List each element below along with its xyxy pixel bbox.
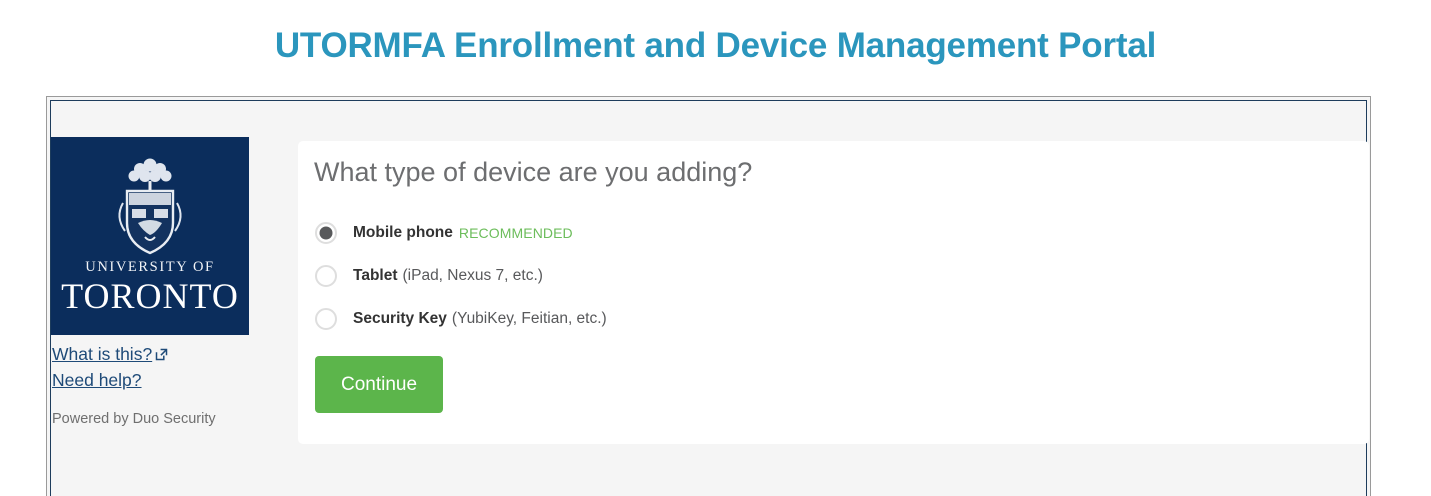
page-title: UTORMFA Enrollment and Device Management… <box>0 26 1431 66</box>
duo-frame-inner-border: UNIVERSITY OF TORONTO What is this? Need… <box>50 100 1367 496</box>
powered-by-label: Powered by Duo Security <box>51 411 296 427</box>
radio-indicator-security-key[interactable] <box>315 308 337 330</box>
university-name-line1: UNIVERSITY OF <box>51 259 249 276</box>
university-logo-box: UNIVERSITY OF TORONTO <box>51 137 249 335</box>
radio-indicator-mobile-phone[interactable] <box>315 222 337 244</box>
duo-enrollment-frame: UNIVERSITY OF TORONTO What is this? Need… <box>46 96 1371 496</box>
sidebar: UNIVERSITY OF TORONTO What is this? Need… <box>51 137 296 427</box>
radio-detail-tablet: (iPad, Nexus 7, etc.) <box>403 267 543 285</box>
uoft-crest-icon <box>107 151 193 261</box>
radio-indicator-tablet[interactable] <box>315 265 337 287</box>
radio-option-mobile-phone[interactable]: Mobile phone RECOMMENDED <box>315 219 1215 247</box>
device-selection-card: What type of device are you adding? Mobi… <box>298 141 1369 444</box>
radio-label-tablet: Tablet <box>353 267 398 285</box>
radio-option-security-key[interactable]: Security Key (YubiKey, Feitian, etc.) <box>315 305 1215 333</box>
external-link-icon <box>155 343 168 368</box>
sidebar-link-what-is-this[interactable]: What is this? <box>52 342 296 368</box>
sidebar-link-need-help-label: Need help? <box>52 370 142 390</box>
radio-option-tablet[interactable]: Tablet (iPad, Nexus 7, etc.) <box>315 262 1215 290</box>
radio-label-mobile-phone: Mobile phone <box>353 224 453 242</box>
device-type-radio-group[interactable]: Mobile phone RECOMMENDED Tablet (iPad, N… <box>315 219 1215 348</box>
sidebar-link-need-help[interactable]: Need help? <box>52 368 296 393</box>
continue-button[interactable]: Continue <box>315 356 443 413</box>
sidebar-link-what-is-this-label: What is this? <box>52 344 152 364</box>
university-name-line2: TORONTO <box>51 277 249 317</box>
sidebar-links: What is this? Need help? <box>51 342 296 393</box>
radio-label-security-key: Security Key <box>353 310 447 328</box>
recommended-badge: RECOMMENDED <box>459 225 573 241</box>
radio-detail-security-key: (YubiKey, Feitian, etc.) <box>452 310 607 328</box>
card-heading: What type of device are you adding? <box>314 157 752 188</box>
